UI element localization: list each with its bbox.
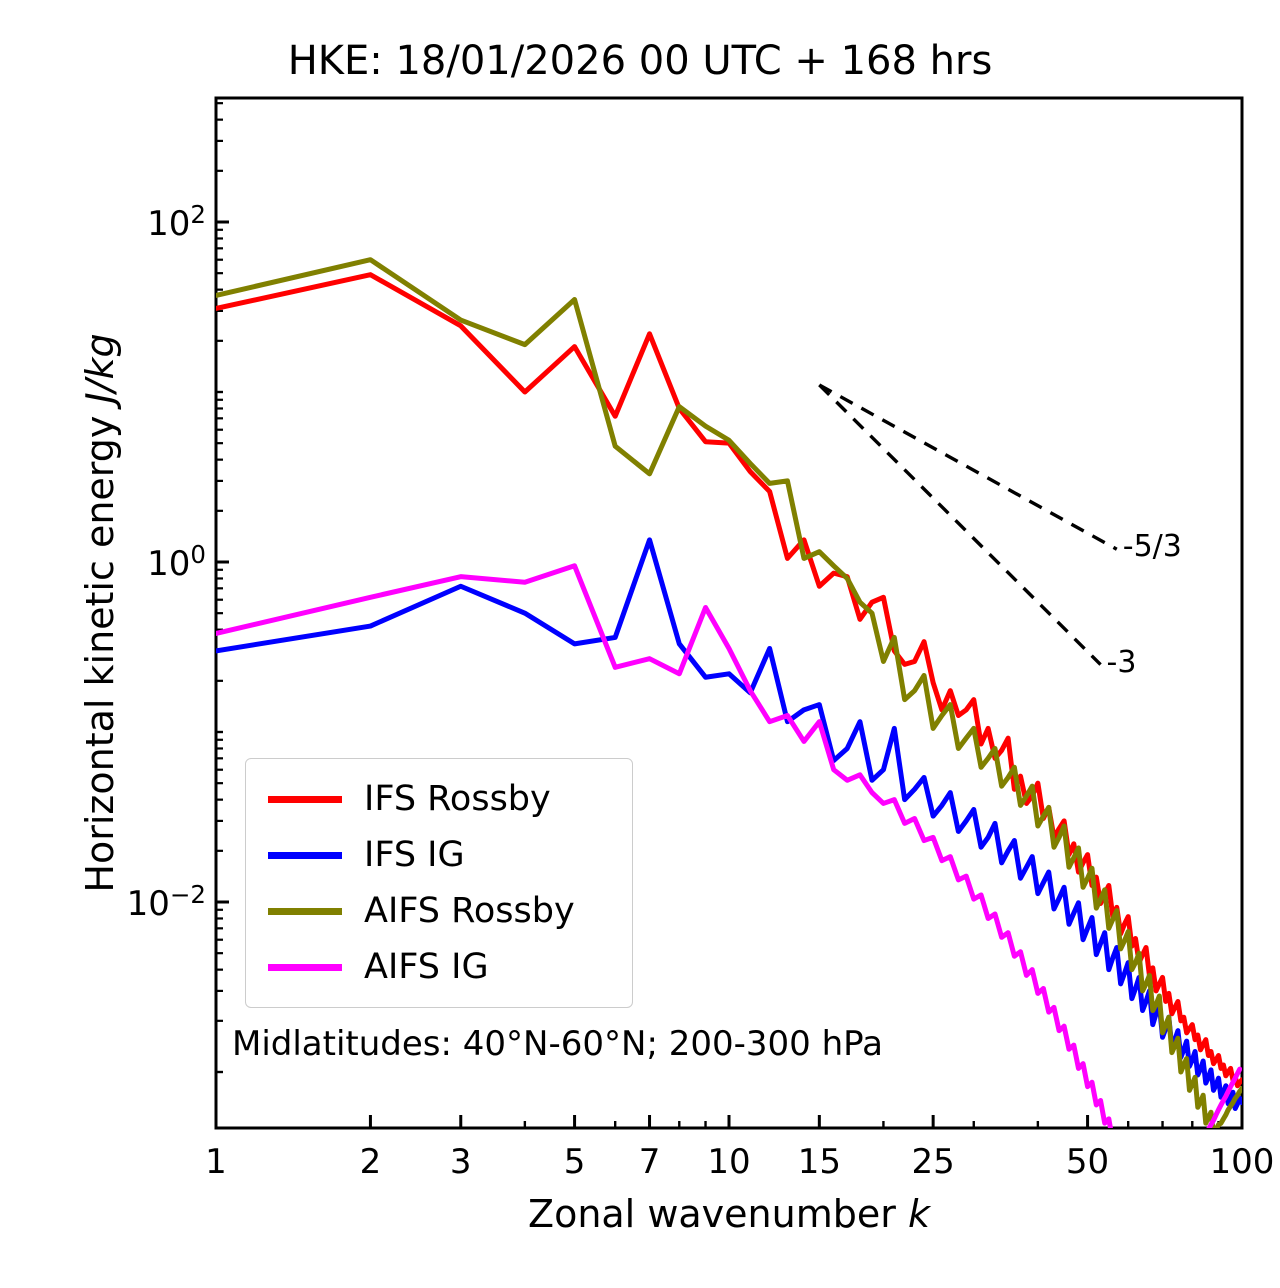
plot-canvas	[0, 0, 1280, 1288]
legend-color-swatch	[268, 964, 342, 971]
x-axis-label-text: Zonal wavenumber	[528, 1192, 908, 1236]
legend-item[interactable]: IFS Rossby	[260, 771, 618, 827]
legend-label: AIFS IG	[364, 947, 489, 987]
y-axis-label: Horizontal kinetic energy J/kg	[78, 98, 122, 1128]
y-axis-label-units: J/kg	[78, 333, 122, 403]
x-tick-label: 3	[450, 1142, 472, 1182]
x-axis-label: Zonal wavenumber k	[216, 1192, 1242, 1236]
data-series-group	[216, 260, 1242, 1212]
x-tick-label: 7	[639, 1142, 661, 1182]
y-tick-label: 10−2	[40, 880, 206, 924]
legend-color-swatch	[268, 908, 342, 915]
reference-slope-lines	[819, 385, 1116, 665]
x-tick-label: 25	[912, 1142, 955, 1182]
legend-label: IFS Rossby	[364, 779, 551, 819]
legend-label: AIFS Rossby	[364, 891, 575, 931]
x-tick-label: 100	[1210, 1142, 1275, 1182]
legend-color-swatch	[268, 796, 342, 803]
x-tick-label: 50	[1066, 1142, 1109, 1182]
legend-item[interactable]: AIFS IG	[260, 939, 618, 995]
y-tick-label: 100	[40, 540, 206, 584]
legend-color-swatch	[268, 852, 342, 859]
ref-line-3	[819, 385, 1100, 665]
legend-item[interactable]: IFS IG	[260, 827, 618, 883]
x-tick-label: 1	[205, 1142, 227, 1182]
legend-item[interactable]: AIFS Rossby	[260, 883, 618, 939]
ref-line-5-3	[819, 385, 1116, 549]
x-tick-label: 5	[564, 1142, 586, 1182]
chart-legend[interactable]: IFS RossbyIFS IGAIFS RossbyAIFS IG	[245, 758, 633, 1008]
slope-label-5-3: -5/3	[1123, 529, 1182, 564]
chart-figure: HKE: 18/01/2026 00 UTC + 168 hrs 1235710…	[0, 0, 1280, 1288]
x-tick-label: 10	[707, 1142, 750, 1182]
x-tick-label: 2	[360, 1142, 382, 1182]
slope-label-3: -3	[1107, 645, 1137, 680]
x-tick-label: 15	[798, 1142, 841, 1182]
legend-label: IFS IG	[364, 835, 465, 875]
y-tick-label: 102	[40, 200, 206, 244]
region-note: Midlatitudes: 40°N-60°N; 200-300 hPa	[232, 1024, 883, 1064]
y-axis-label-text: Horizontal kinetic energy	[78, 404, 122, 893]
x-axis-label-symbol: k	[908, 1192, 930, 1236]
